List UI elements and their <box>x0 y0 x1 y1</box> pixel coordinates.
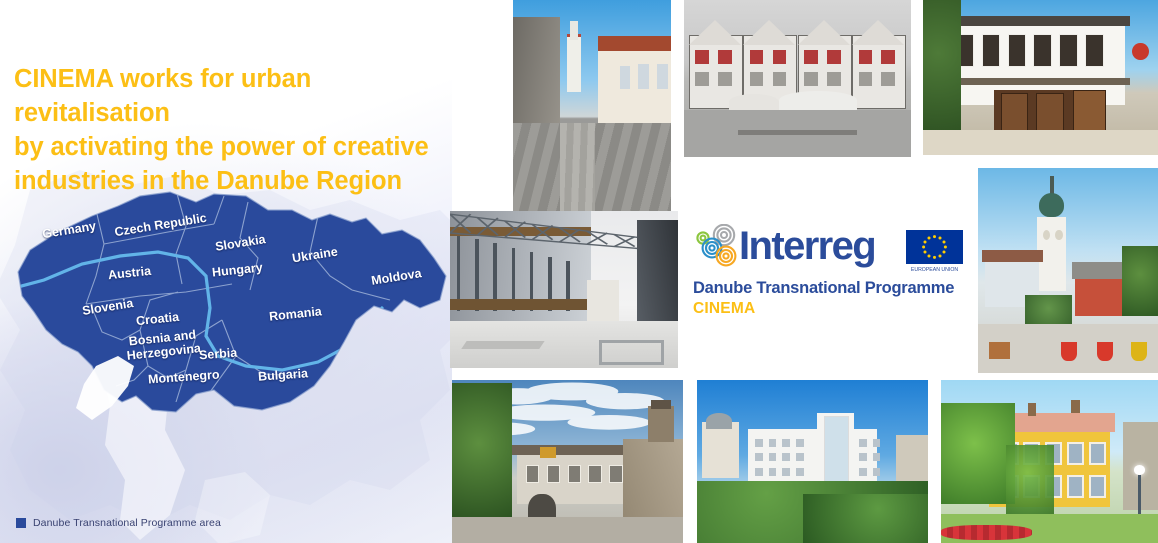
interreg-wordmark: Interreg <box>739 224 875 268</box>
photo-church-square-planters: Church with green dome and colourful pla… <box>978 168 1158 373</box>
interreg-logo-block: Interreg EUROPEAN UNION Danube Transnati… <box>693 222 965 322</box>
country-label-serbia: Serbia <box>199 346 238 363</box>
photo-yellow-baroque-building: Yellow baroque building with trees and f… <box>941 380 1158 543</box>
photo-historic-courtyard: Historic courtyard building under cloudy… <box>452 380 683 543</box>
headline-line-2: by activating the power of creative <box>14 130 452 164</box>
slide-canvas: CINEMA works for urban revitalisation by… <box>0 0 1158 543</box>
legend-label: Danube Transnational Programme area <box>33 517 221 529</box>
logo-top-row: Interreg EUROPEAN UNION <box>693 222 965 280</box>
eu-flag-icon: EUROPEAN UNION <box>906 230 963 274</box>
photo-white-traditional-house: White traditional building with dark woo… <box>923 0 1158 155</box>
page-title: CINEMA works for urban revitalisation by… <box>14 62 452 198</box>
danube-region-map: GermanyCzech RepublicSlovakiaUkraineAust… <box>0 180 452 440</box>
adriatic-sea <box>76 356 134 420</box>
photo-industrial-hall-interior: Industrial hall interior with steel trus… <box>450 211 678 368</box>
eu-flag-caption: EUROPEAN UNION <box>911 267 959 273</box>
photo-white-modernist-block: White modernist building behind green tr… <box>697 380 928 543</box>
legend-swatch <box>16 518 26 528</box>
programme-name: Danube Transnational Programme <box>693 279 965 298</box>
map-shapes <box>0 180 452 440</box>
left-panel: CINEMA works for urban revitalisation by… <box>0 0 452 543</box>
photo-street-with-church-tower: Cobbled old town street with church towe… <box>513 0 671 212</box>
headline-line-1: CINEMA works for urban revitalisation <box>14 62 452 130</box>
photo-half-timbered-market: Half-timbered market square with cafe um… <box>684 0 911 157</box>
map-legend: Danube Transnational Programme area <box>16 517 221 529</box>
project-name: CINEMA <box>693 299 965 318</box>
interreg-rings-icon <box>693 224 745 270</box>
